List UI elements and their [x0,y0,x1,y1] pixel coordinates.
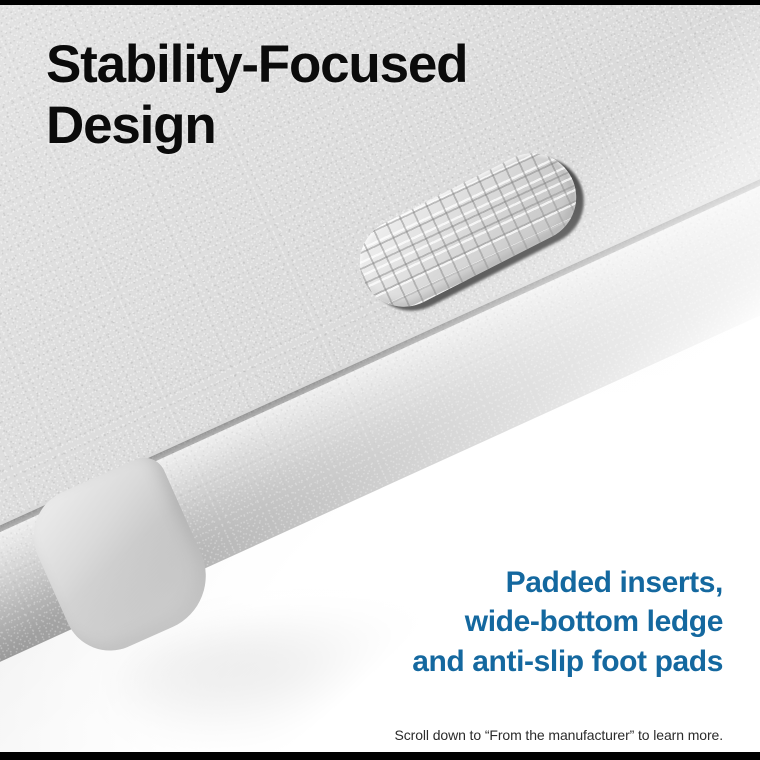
page-title: Stability-Focused Design [46,34,606,157]
feature-callout-line-1: Padded inserts, [293,563,723,602]
scroll-hint-caption: Scroll down to “From the manufacturer” t… [395,727,724,743]
feature-callout: Padded inserts, wide-bottom ledge and an… [293,563,723,681]
product-image-panel: Stability-Focused Design Padded inserts,… [0,0,760,760]
bottom-frame-bar [0,752,760,760]
top-frame-bar [0,0,760,5]
feature-callout-line-2: wide-bottom ledge [293,602,723,641]
feature-callout-line-3: and anti-slip foot pads [293,642,723,681]
